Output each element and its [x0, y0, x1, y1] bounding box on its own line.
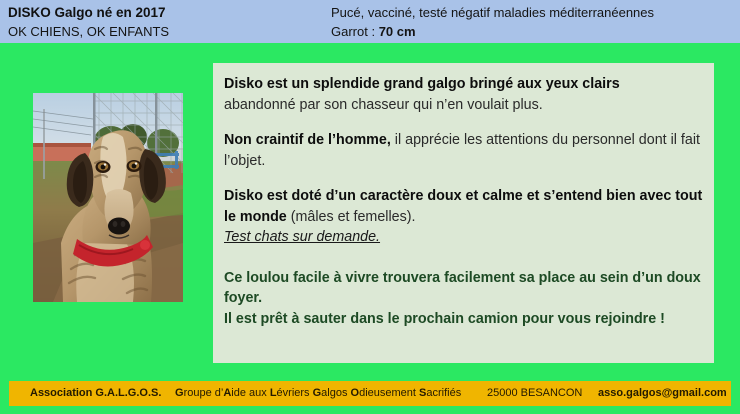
full-name-part-5: dieusement — [359, 387, 419, 399]
header-left-column: DISKO Galgo né en 2017 OK CHIENS, OK ENF… — [8, 3, 328, 41]
dog-photo-illustration — [33, 93, 183, 302]
compatibility-line: OK CHIENS, OK ENFANTS — [8, 22, 328, 41]
dog-title: DISKO Galgo né en 2017 — [8, 3, 328, 22]
acronym-letter-g2: G — [313, 387, 322, 399]
acronym-letter-g1: G — [175, 387, 184, 399]
dog-photo — [33, 93, 183, 302]
description-paragraph-2: Non craintif de l’homme, il apprécie les… — [224, 130, 704, 171]
full-name-part-4: algos — [321, 387, 350, 399]
adoption-poster: DISKO Galgo né en 2017 OK CHIENS, OK ENF… — [0, 0, 740, 414]
height-line: Garrot : 70 cm — [331, 22, 736, 41]
p1-bold-text: Disko est un splendide grand galgo bring… — [224, 76, 620, 92]
full-name-part-6: acrifiés — [426, 387, 461, 399]
height-label: Garrot : — [331, 24, 379, 39]
cat-test-note: Test chats sur demande. — [224, 229, 380, 245]
header-right-column: Pucé, vacciné, testé négatif maladies mé… — [331, 3, 736, 41]
association-name: Association G.A.L.G.O.S. — [30, 387, 161, 399]
p4-line1-text: Ce loulou facile à vivre trouvera facile… — [224, 270, 701, 307]
description-paragraph-4: Ce loulou facile à vivre trouvera facile… — [224, 268, 704, 330]
p4-line2-text: Il est prêt à sauter dans le prochain ca… — [224, 311, 665, 327]
association-footer: Association G.A.L.G.O.S. Groupe d’Aide a… — [9, 381, 731, 406]
footer-content: Association G.A.L.G.O.S. Groupe d’Aide a… — [9, 381, 731, 406]
p1-rest-text: abandonné par son chasseur qui n’en voul… — [224, 97, 543, 113]
association-full-name: Groupe d’Aide aux Lévriers Galgos Odieus… — [175, 387, 461, 399]
height-value: 70 cm — [379, 24, 416, 39]
acronym-letter-o1: O — [351, 387, 360, 399]
full-name-part-3: évriers — [277, 387, 313, 399]
association-city: 25000 BESANCON — [487, 387, 582, 399]
health-status-line: Pucé, vacciné, testé négatif maladies mé… — [331, 3, 736, 22]
acronym-letter-l1: L — [270, 387, 277, 399]
full-name-part-1: roupe d’ — [184, 387, 224, 399]
p2-bold-text: Non craintif de l’homme, — [224, 132, 391, 148]
description-paragraph-3: Disko est doté d’un caractère doux et ca… — [224, 186, 704, 248]
association-email[interactable]: asso.galgos@gmail.com — [598, 387, 727, 399]
full-name-part-2: ide aux — [231, 387, 270, 399]
description-panel: Disko est un splendide grand galgo bring… — [213, 63, 714, 363]
p3-rest-text: (mâles et femelles). — [287, 209, 416, 225]
description-paragraph-1: Disko est un splendide grand galgo bring… — [224, 74, 704, 115]
poster-header: DISKO Galgo né en 2017 OK CHIENS, OK ENF… — [0, 0, 740, 43]
